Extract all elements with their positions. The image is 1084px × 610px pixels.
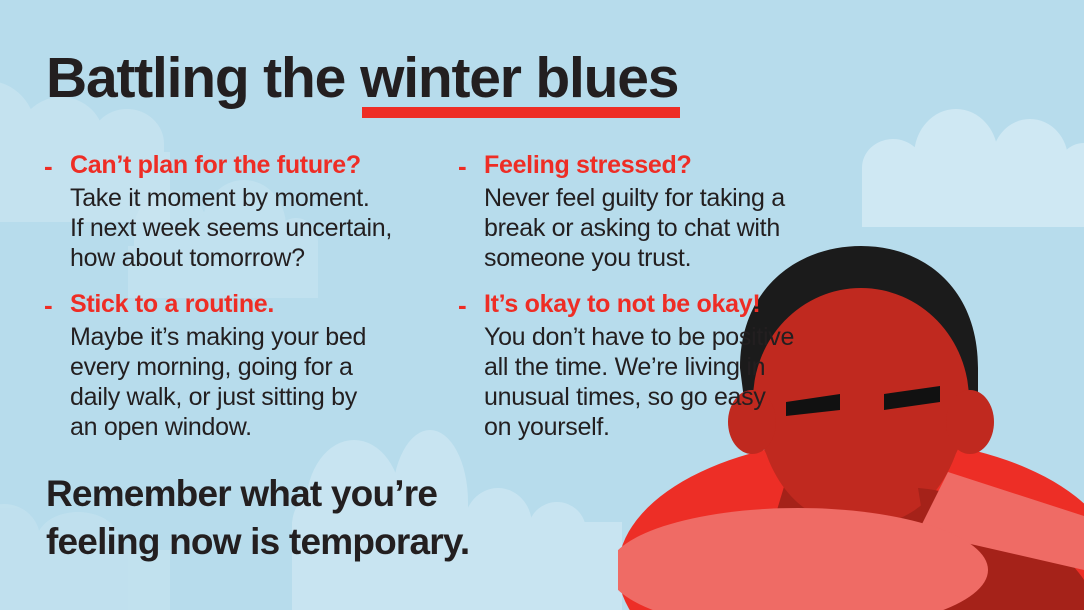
cloud-lobe (914, 109, 998, 187)
title-underlined-text: winter blues (360, 46, 678, 110)
tip-text: You don’t have to be positive all the ti… (484, 322, 866, 442)
cloud-lobe (528, 502, 586, 550)
cloud-shape-top-right (862, 112, 1084, 227)
tip-body: Can’t plan for the future? Take it momen… (70, 150, 452, 273)
bullet-dash-icon: - (44, 150, 70, 273)
bullet-dash-icon: - (458, 150, 484, 273)
tip-body: It’s okay to not be okay! You don’t have… (484, 289, 866, 442)
tip-body: Feeling stressed? Never feel guilty for … (484, 150, 866, 273)
ear-right (946, 390, 994, 454)
tip-text: Never feel guilty for taking a break or … (484, 183, 866, 273)
infographic-poster: Battling the winter blues - Can’t plan f… (0, 0, 1084, 610)
tip-heading: It’s okay to not be okay! (484, 289, 866, 320)
tip-text: Maybe it’s making your bed every morning… (70, 322, 452, 442)
tips-columns: - Can’t plan for the future? Take it mom… (44, 150, 884, 458)
cloud-base (862, 173, 1084, 227)
cloud-lobe (0, 81, 36, 167)
cloud-lobe (992, 119, 1068, 187)
tip-heading: Stick to a routine. (70, 289, 452, 320)
title-underline-bar (362, 107, 680, 118)
tips-column-right: - Feeling stressed? Never feel guilty fo… (458, 150, 866, 458)
title-lead: Battling the (46, 50, 345, 107)
tip-heading: Feeling stressed? (484, 150, 866, 181)
tip-item: - Can’t plan for the future? Take it mom… (44, 150, 452, 273)
title-underlined-wrap: winter blues (360, 50, 678, 107)
tip-heading: Can’t plan for the future? (70, 150, 452, 181)
cloud-lobe (1058, 143, 1084, 187)
tips-column-left: - Can’t plan for the future? Take it mom… (44, 150, 452, 458)
bullet-dash-icon: - (458, 289, 484, 442)
tip-item: - Feeling stressed? Never feel guilty fo… (458, 150, 866, 273)
bullet-dash-icon: - (44, 289, 70, 442)
page-title: Battling the winter blues (46, 50, 678, 107)
cloud-lobe (0, 504, 40, 562)
tip-item: - It’s okay to not be okay! You don’t ha… (458, 289, 866, 442)
tip-text: Take it moment by moment. If next week s… (70, 183, 452, 273)
closing-tagline: Remember what you’re feeling now is temp… (46, 470, 469, 566)
cloud-lobe (464, 488, 532, 550)
tip-body: Stick to a routine. Maybe it’s making yo… (70, 289, 452, 442)
tip-item: - Stick to a routine. Maybe it’s making … (44, 289, 452, 442)
